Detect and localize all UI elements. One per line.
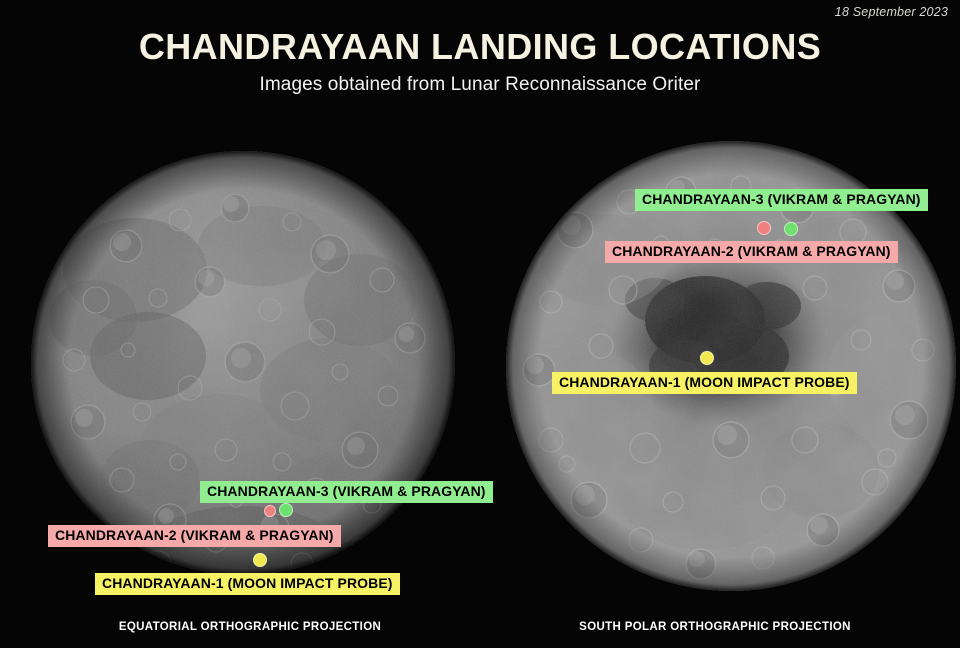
label-chandrayaan-3-equatorial[interactable]: CHANDRAYAAN-3 (VIKRAM & PRAGYAN) bbox=[200, 481, 493, 503]
label-chandrayaan-2-equatorial[interactable]: CHANDRAYAAN-2 (VIKRAM & PRAGYAN) bbox=[48, 525, 341, 547]
label-chandrayaan-1-south-polar[interactable]: CHANDRAYAAN-1 (MOON IMPACT PROBE) bbox=[552, 372, 857, 394]
moon-equatorial-view bbox=[30, 150, 456, 576]
caption-equatorial: EQUATORIAL ORTHOGRAPHIC PROJECTION bbox=[0, 621, 500, 633]
caption-south-polar: SOUTH POLAR ORTHOGRAPHIC PROJECTION bbox=[470, 621, 960, 633]
marker-chandrayaan-1-equatorial[interactable] bbox=[253, 553, 267, 567]
poster-canvas: 18 September 2023 CHANDRAYAAN LANDING LO… bbox=[0, 0, 960, 648]
marker-chandrayaan-2-equatorial[interactable] bbox=[264, 505, 276, 517]
panel-south-polar bbox=[480, 0, 960, 648]
marker-chandrayaan-3-south-polar[interactable] bbox=[784, 222, 798, 236]
marker-chandrayaan-2-south-polar[interactable] bbox=[757, 221, 771, 235]
label-chandrayaan-1-equatorial[interactable]: CHANDRAYAAN-1 (MOON IMPACT PROBE) bbox=[95, 573, 400, 595]
panel-equatorial bbox=[0, 0, 480, 648]
label-chandrayaan-2-south-polar[interactable]: CHANDRAYAAN-2 (VIKRAM & PRAGYAN) bbox=[605, 241, 898, 263]
label-chandrayaan-3-south-polar[interactable]: CHANDRAYAAN-3 (VIKRAM & PRAGYAN) bbox=[635, 189, 928, 211]
marker-chandrayaan-3-equatorial[interactable] bbox=[279, 503, 293, 517]
marker-chandrayaan-1-south-polar[interactable] bbox=[700, 351, 714, 365]
